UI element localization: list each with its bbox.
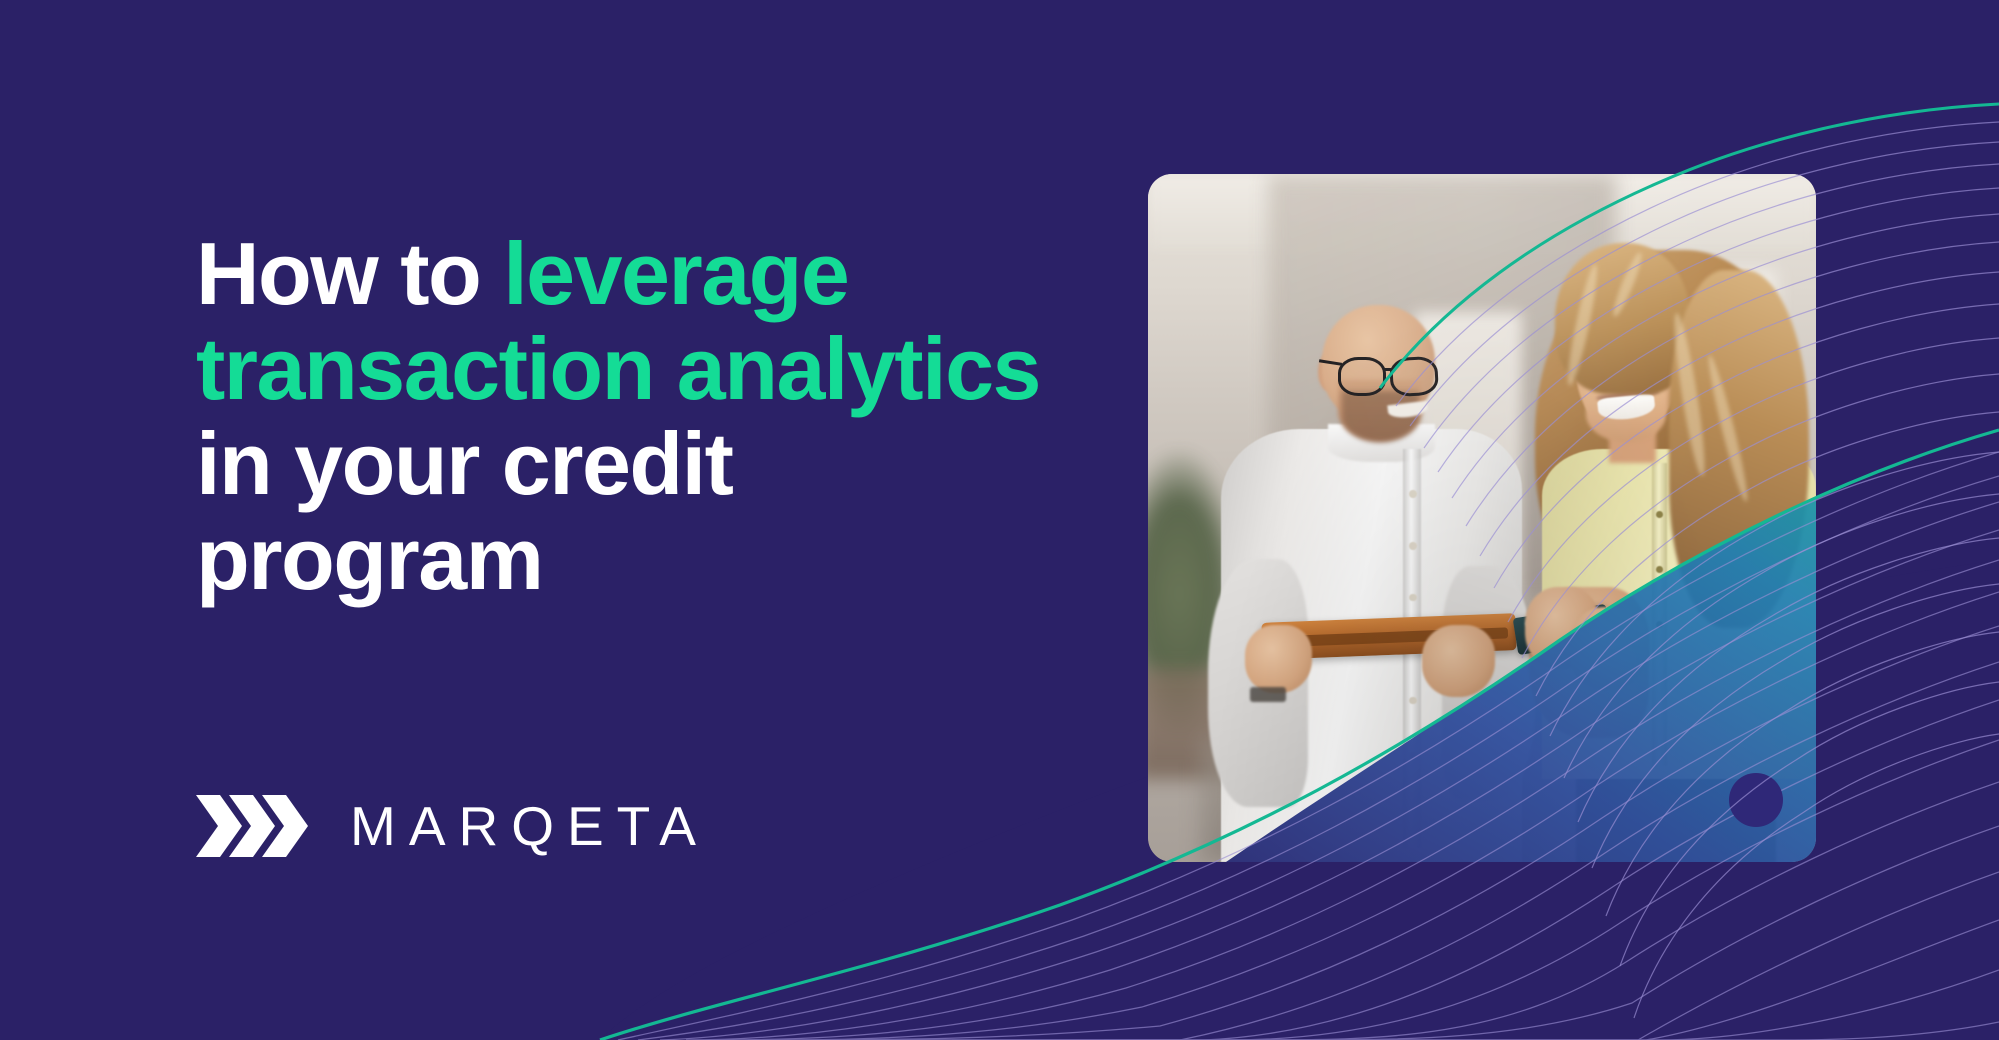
photo-vignette (1148, 174, 1816, 862)
marqeta-chevrons-icon (196, 795, 316, 857)
marketing-banner: How to leverage transaction analytics in… (0, 0, 1999, 1040)
headline-part-3: in your credit program (196, 414, 732, 608)
marqeta-logo[interactable]: MARQETA (196, 795, 709, 857)
hero-photo (1148, 174, 1816, 862)
headline-part-1: How to (196, 224, 503, 323)
marqeta-wordmark: MARQETA (350, 799, 709, 854)
page-title: How to leverage transaction analytics in… (196, 226, 1096, 606)
